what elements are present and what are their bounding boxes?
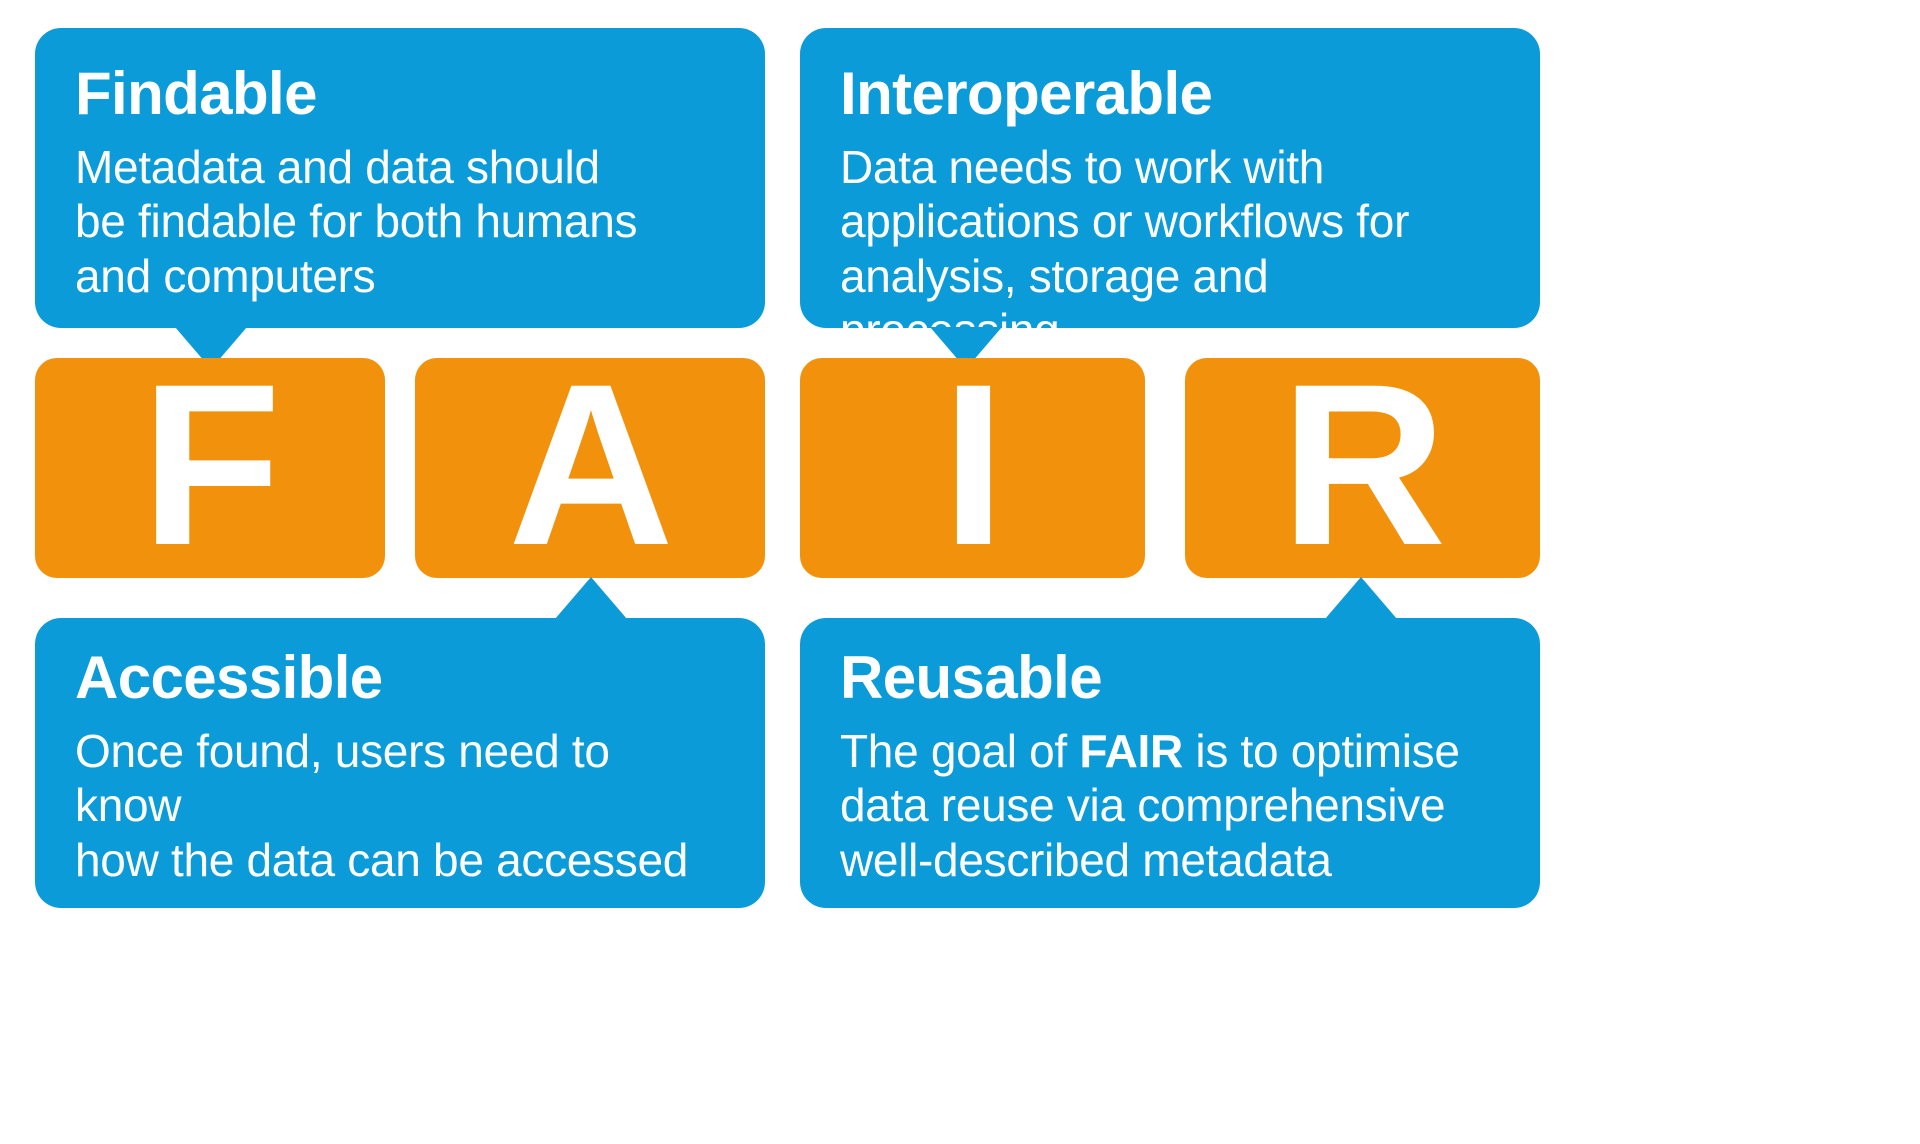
panel-findable-line-2: be findable for both humans — [75, 194, 725, 248]
panel-interoperable-line-1: Data needs to work with — [840, 140, 1500, 194]
panel-interoperable: Interoperable Data needs to work with ap… — [800, 28, 1540, 328]
panel-reusable-line-1-pre: The goal of — [840, 725, 1079, 777]
letter-tile-r: R — [1185, 358, 1540, 578]
arrow-reusable-to-r-icon — [1325, 577, 1397, 619]
panel-reusable-title: Reusable — [840, 648, 1500, 708]
panel-findable-title: Findable — [75, 64, 725, 124]
panel-reusable-line-3: well-described metadata — [840, 833, 1500, 887]
panel-reusable: Reusable The goal of FAIR is to optimise… — [800, 618, 1540, 908]
panel-reusable-line-2: data reuse via comprehensive — [840, 778, 1500, 832]
panel-findable-body: Metadata and data should be findable for… — [75, 140, 725, 303]
panel-reusable-body: The goal of FAIR is to optimise data reu… — [840, 724, 1500, 887]
panel-accessible-line-2: how the data can be accessed — [75, 833, 725, 887]
panel-interoperable-title: Interoperable — [840, 64, 1500, 124]
fair-diagram: Findable Metadata and data should be fin… — [0, 0, 1920, 1144]
panel-accessible-title: Accessible — [75, 648, 725, 708]
panel-reusable-line-1-post: is to optimise — [1183, 725, 1460, 777]
letter-tile-f: F — [35, 358, 385, 578]
panel-findable: Findable Metadata and data should be fin… — [35, 28, 765, 328]
panel-findable-line-3: and computers — [75, 249, 725, 303]
letter-tile-i: I — [800, 358, 1145, 578]
panel-accessible-line-1: Once found, users need to know — [75, 724, 725, 833]
panel-reusable-fair-emphasis: FAIR — [1079, 725, 1183, 777]
panel-accessible-body: Once found, users need to know how the d… — [75, 724, 725, 887]
arrow-accessible-to-a-icon — [555, 577, 627, 619]
panel-reusable-line-1: The goal of FAIR is to optimise — [840, 724, 1500, 778]
panel-findable-line-1: Metadata and data should — [75, 140, 725, 194]
panel-interoperable-body: Data needs to work with applications or … — [840, 140, 1500, 357]
letter-tile-a: A — [415, 358, 765, 578]
panel-interoperable-line-2: applications or workflows for — [840, 194, 1500, 248]
panel-accessible: Accessible Once found, users need to kno… — [35, 618, 765, 908]
